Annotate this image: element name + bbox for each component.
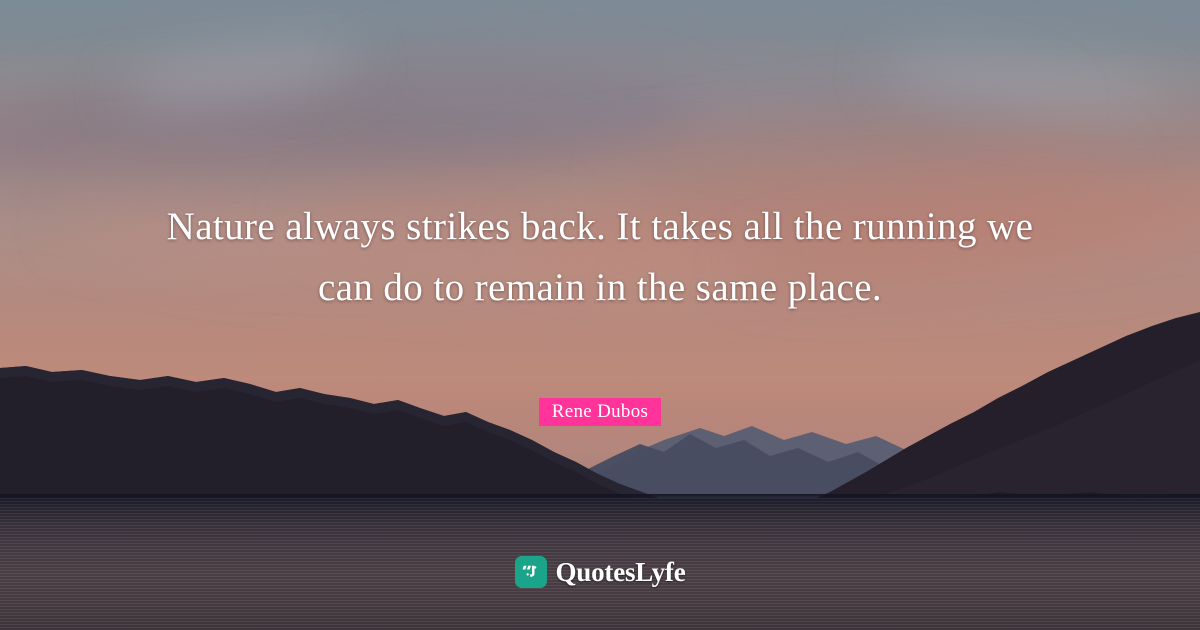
quote-marks-icon [515,556,547,588]
brand-name: QuotesLyfe [556,556,686,588]
author-badge[interactable]: Rene Dubos [539,398,661,426]
author-container: Rene Dubos [0,398,1200,426]
quote-container: Nature always strikes back. It takes all… [150,196,1050,318]
brand-logo[interactable]: QuotesLyfe [0,556,1200,588]
quote-card: Nature always strikes back. It takes all… [0,0,1200,630]
quote-text: Nature always strikes back. It takes all… [150,196,1050,318]
